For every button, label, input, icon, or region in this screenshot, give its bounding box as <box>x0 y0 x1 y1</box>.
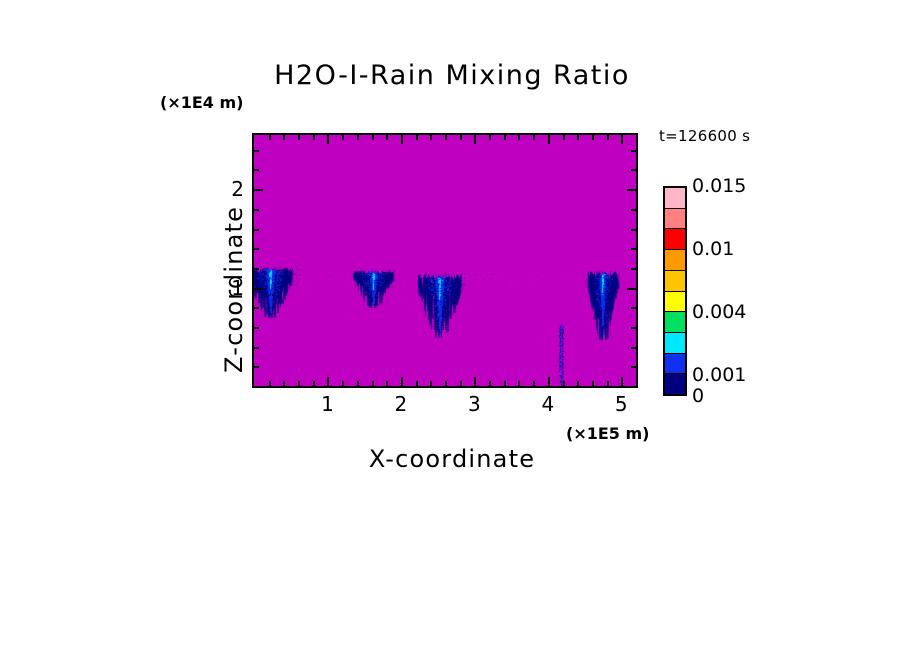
colorbar-band <box>665 228 685 249</box>
y-tick-right <box>627 189 636 191</box>
y-tick-left <box>254 150 259 152</box>
x-tick-top <box>533 135 535 140</box>
x-tick-bottom <box>313 381 315 386</box>
y-tick-right <box>631 169 636 171</box>
x-tick-top <box>401 135 403 144</box>
x-tick-bottom <box>372 381 374 386</box>
x-tick-top <box>342 135 344 140</box>
colorbar-tick-label: 0.001 <box>692 364 746 386</box>
x-tick-top <box>269 135 271 140</box>
x-tick-top <box>489 135 491 140</box>
y-axis-label: Z-coordinate <box>220 206 248 373</box>
y-tick-left <box>254 307 259 309</box>
x-tick-label: 4 <box>541 392 554 416</box>
x-tick-label: 2 <box>395 392 408 416</box>
x-tick-bottom <box>518 381 520 386</box>
x-tick-bottom <box>607 381 609 386</box>
colorbar-tick-label: 0.004 <box>692 301 746 323</box>
y-tick-right <box>631 366 636 368</box>
y-tick-right <box>631 268 636 270</box>
y-tick-left <box>254 229 259 231</box>
x-tick-bottom <box>386 381 388 386</box>
x-tick-bottom <box>430 381 432 386</box>
x-tick-bottom <box>357 381 359 386</box>
x-tick-label: 3 <box>468 392 481 416</box>
x-tick-top <box>327 135 329 144</box>
colorbar <box>663 186 687 396</box>
x-tick-bottom <box>533 381 535 386</box>
colorbar-band <box>665 373 685 394</box>
x-tick-top <box>504 135 506 140</box>
x-tick-bottom <box>269 381 271 386</box>
x-tick-bottom <box>298 381 300 386</box>
x-tick-top <box>518 135 520 140</box>
x-tick-top <box>563 135 565 140</box>
colorbar-tick-label: 0.015 <box>692 175 746 197</box>
x-tick-bottom <box>445 381 447 386</box>
x-tick-bottom <box>577 381 579 386</box>
page-title: H2O-I-Rain Mixing Ratio <box>0 60 904 91</box>
x-tick-top <box>445 135 447 140</box>
colorbar-band <box>665 291 685 312</box>
x-tick-top <box>283 135 285 140</box>
x-tick-label: 1 <box>321 392 334 416</box>
x-tick-bottom <box>592 381 594 386</box>
x-tick-top <box>577 135 579 140</box>
time-annotation: t=126600 s <box>659 127 750 145</box>
colorbar-band <box>665 270 685 291</box>
y-tick-right <box>631 150 636 152</box>
colorbar-band <box>665 208 685 229</box>
x-tick-bottom <box>401 377 403 386</box>
x-tick-bottom <box>474 377 476 386</box>
y-tick-left <box>254 268 259 270</box>
x-tick-top <box>460 135 462 140</box>
y-tick-left <box>254 327 259 329</box>
x-tick-bottom <box>548 377 550 386</box>
x-tick-top <box>357 135 359 140</box>
x-tick-bottom <box>563 381 565 386</box>
x-tick-bottom <box>504 381 506 386</box>
y-tick-left <box>254 366 259 368</box>
x-tick-top <box>474 135 476 144</box>
x-tick-top <box>621 135 623 144</box>
x-tick-top <box>430 135 432 140</box>
y-tick-right <box>631 347 636 349</box>
x-tick-label: 5 <box>615 392 628 416</box>
x-tick-top <box>372 135 374 140</box>
y-tick-left <box>254 347 259 349</box>
colorbar-band <box>665 249 685 270</box>
colorbar-band <box>665 311 685 332</box>
colorbar-tick-label: 0 <box>692 385 704 407</box>
x-tick-top <box>313 135 315 140</box>
x-tick-bottom <box>342 381 344 386</box>
x-tick-bottom <box>283 381 285 386</box>
y-tick-left <box>254 288 263 290</box>
x-tick-bottom <box>489 381 491 386</box>
y-tick-left <box>254 189 263 191</box>
x-tick-bottom <box>621 377 623 386</box>
figure-canvas: H2O-I-Rain Mixing Ratio (×1E4 m) t=12660… <box>0 0 904 654</box>
y-tick-right <box>631 229 636 231</box>
x-tick-bottom <box>460 381 462 386</box>
heatmap-canvas <box>254 135 636 386</box>
y-tick-right <box>631 327 636 329</box>
y-tick-right <box>627 288 636 290</box>
y-tick-left <box>254 169 259 171</box>
y-axis-units-label: (×1E4 m) <box>160 93 243 112</box>
x-tick-top <box>298 135 300 140</box>
x-axis-label: X-coordinate <box>0 445 904 473</box>
y-tick-left <box>254 248 259 250</box>
colorbar-band <box>665 332 685 353</box>
colorbar-tick-label: 0.01 <box>692 238 734 260</box>
y-tick-right <box>631 307 636 309</box>
y-tick-left <box>254 209 259 211</box>
x-tick-top <box>607 135 609 140</box>
y-tick-right <box>631 248 636 250</box>
x-tick-top <box>548 135 550 144</box>
colorbar-band <box>665 353 685 374</box>
x-tick-bottom <box>327 377 329 386</box>
x-tick-top <box>592 135 594 140</box>
x-tick-top <box>386 135 388 140</box>
x-tick-bottom <box>416 381 418 386</box>
x-axis-units-label: (×1E5 m) <box>566 424 649 443</box>
y-tick-right <box>631 209 636 211</box>
y-tick-label: 2 <box>226 177 244 201</box>
plot-area <box>252 133 638 388</box>
x-tick-top <box>416 135 418 140</box>
colorbar-band <box>665 188 685 208</box>
